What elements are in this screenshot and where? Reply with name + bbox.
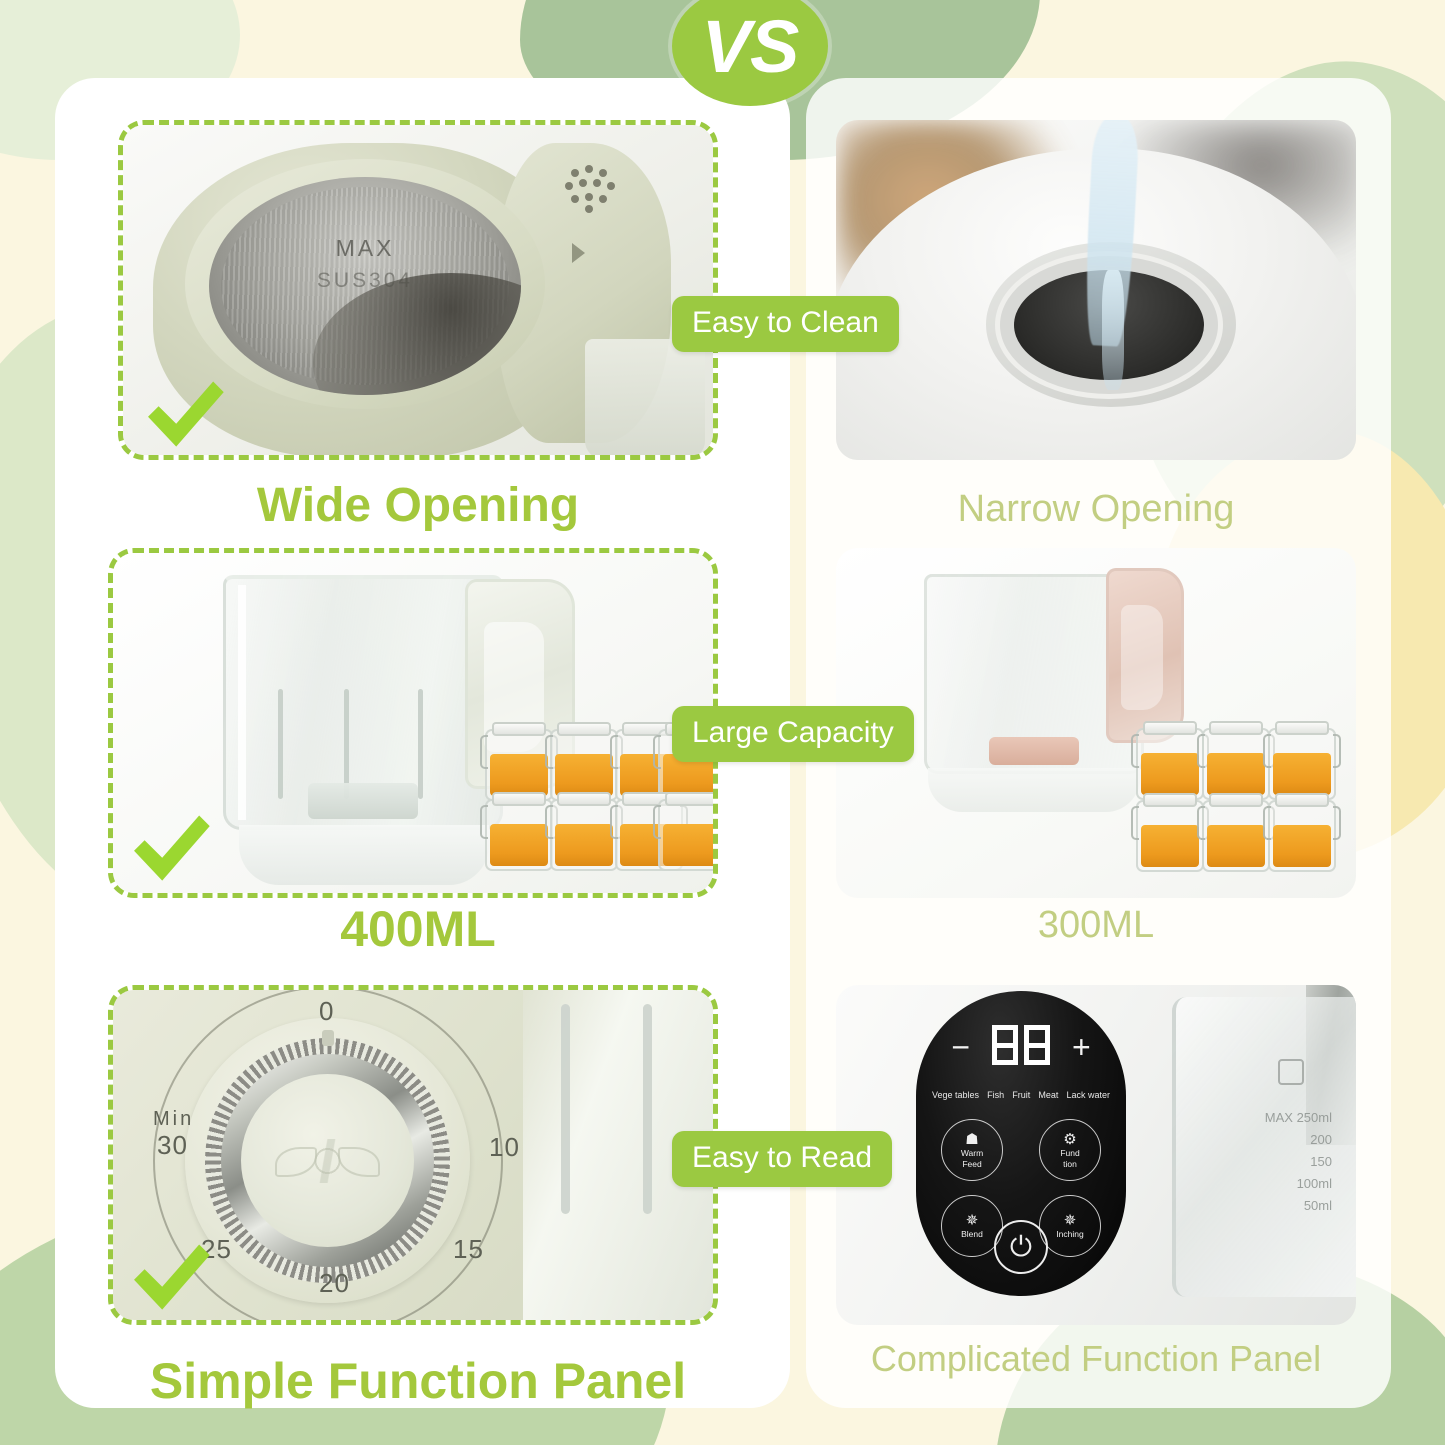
blade-icon: ✵ — [966, 1213, 979, 1228]
steel-max-label: MAX — [209, 235, 521, 262]
blade-icon: ✵ — [1064, 1213, 1077, 1228]
jug-handle — [1106, 568, 1184, 743]
gear-icon: ⚙ — [1063, 1132, 1076, 1147]
water-stream — [1102, 270, 1124, 390]
photo-complicated-panel: − + Vege tables Fish Fruit Meat Lack wat… — [836, 985, 1356, 1325]
dial-tick-10: 10 — [489, 1132, 520, 1163]
spout-arrow-icon — [572, 243, 585, 263]
button-function[interactable]: ⚙ Fund tion — [1039, 1119, 1101, 1181]
cup-mark-150: 150 — [1265, 1151, 1332, 1173]
blender-jug-400ml — [223, 575, 503, 830]
dial-pointer — [322, 1030, 334, 1046]
mode-label-row: Vege tables Fish Fruit Meat Lack water — [922, 1091, 1120, 1100]
display-row: − + — [916, 1025, 1126, 1070]
cup-mark-100: 100ml — [1265, 1173, 1332, 1195]
dial-tick-20: 20 — [319, 1268, 350, 1299]
button-label: Feed — [962, 1160, 981, 1169]
photo-small-capacity — [836, 548, 1356, 898]
button-label: Inching — [1056, 1230, 1083, 1239]
blade-assembly — [308, 783, 418, 819]
button-label: tion — [1063, 1160, 1077, 1169]
caption-400ml: 400ML — [118, 900, 718, 958]
steel-material-label: SUS304 — [209, 269, 521, 293]
glass-jug-edge — [585, 339, 705, 459]
button-label: Fund — [1060, 1149, 1079, 1158]
caption-wide-opening: Wide Opening — [118, 478, 718, 533]
caption-300ml: 300ML — [836, 904, 1356, 947]
vent-holes-icon — [561, 165, 621, 213]
photo-simple-panel: 0 10 15 20 25 30 Min — [108, 985, 718, 1325]
mode-label-lack-water: Lack water — [1066, 1091, 1110, 1100]
photo-wide-opening: MAX SUS304 — [118, 120, 718, 460]
button-inching[interactable]: ✵ Inching — [1039, 1195, 1101, 1257]
blade-assembly — [989, 737, 1079, 765]
button-warm-feed[interactable]: ☗ Warm Feed — [941, 1119, 1003, 1181]
pill-easy-to-clean: Easy to Clean — [672, 296, 899, 352]
minus-button[interactable]: − — [951, 1029, 970, 1066]
mode-label-meat: Meat — [1038, 1091, 1058, 1100]
plus-button[interactable]: + — [1072, 1029, 1091, 1066]
dial-tick-30: 30 — [157, 1130, 188, 1161]
kettle-steel-interior: MAX SUS304 — [209, 177, 521, 395]
pill-large-capacity: Large Capacity — [672, 706, 914, 762]
button-label: Warm — [961, 1149, 983, 1158]
pill-easy-to-read: Easy to Read — [672, 1131, 892, 1187]
photo-narrow-opening — [836, 120, 1356, 460]
dial-unit-label: Min — [153, 1108, 194, 1131]
jug-base — [239, 825, 489, 885]
seven-segment-display — [992, 1025, 1050, 1070]
caption-narrow-opening: Narrow Opening — [836, 488, 1356, 531]
jug-base — [928, 768, 1140, 812]
dial-tick-15: 15 — [453, 1234, 484, 1265]
mode-label-fish: Fish — [987, 1091, 1004, 1100]
warm-feed-icon: ☗ — [965, 1132, 978, 1147]
cup-mark-max: MAX 250ml — [1265, 1107, 1332, 1129]
power-button[interactable]: ⏻ — [994, 1220, 1048, 1274]
button-label: Blend — [961, 1230, 983, 1239]
caption-simple-function-panel: Simple Function Panel — [78, 1352, 758, 1410]
dial-tick-25: 25 — [201, 1234, 232, 1265]
cup-icon — [1278, 1059, 1304, 1085]
control-panel: − + Vege tables Fish Fruit Meat Lack wat… — [916, 991, 1126, 1296]
cup-mark-200: 200 — [1265, 1129, 1332, 1151]
mode-label-vegetables: Vege tables — [932, 1091, 979, 1100]
cup-scale-markings: MAX 250ml 200 150 100ml 50ml — [1265, 1107, 1332, 1217]
mode-label-fruit: Fruit — [1012, 1091, 1030, 1100]
brand-logo-icon — [275, 1139, 380, 1183]
photo-large-capacity — [108, 548, 718, 898]
cup-mark-50: 50ml — [1265, 1195, 1332, 1217]
measuring-cup: MAX 250ml 200 150 100ml 50ml — [1172, 997, 1356, 1297]
dial-tick-0: 0 — [319, 996, 334, 1027]
caption-complicated-function-panel: Complicated Function Panel — [816, 1338, 1376, 1380]
